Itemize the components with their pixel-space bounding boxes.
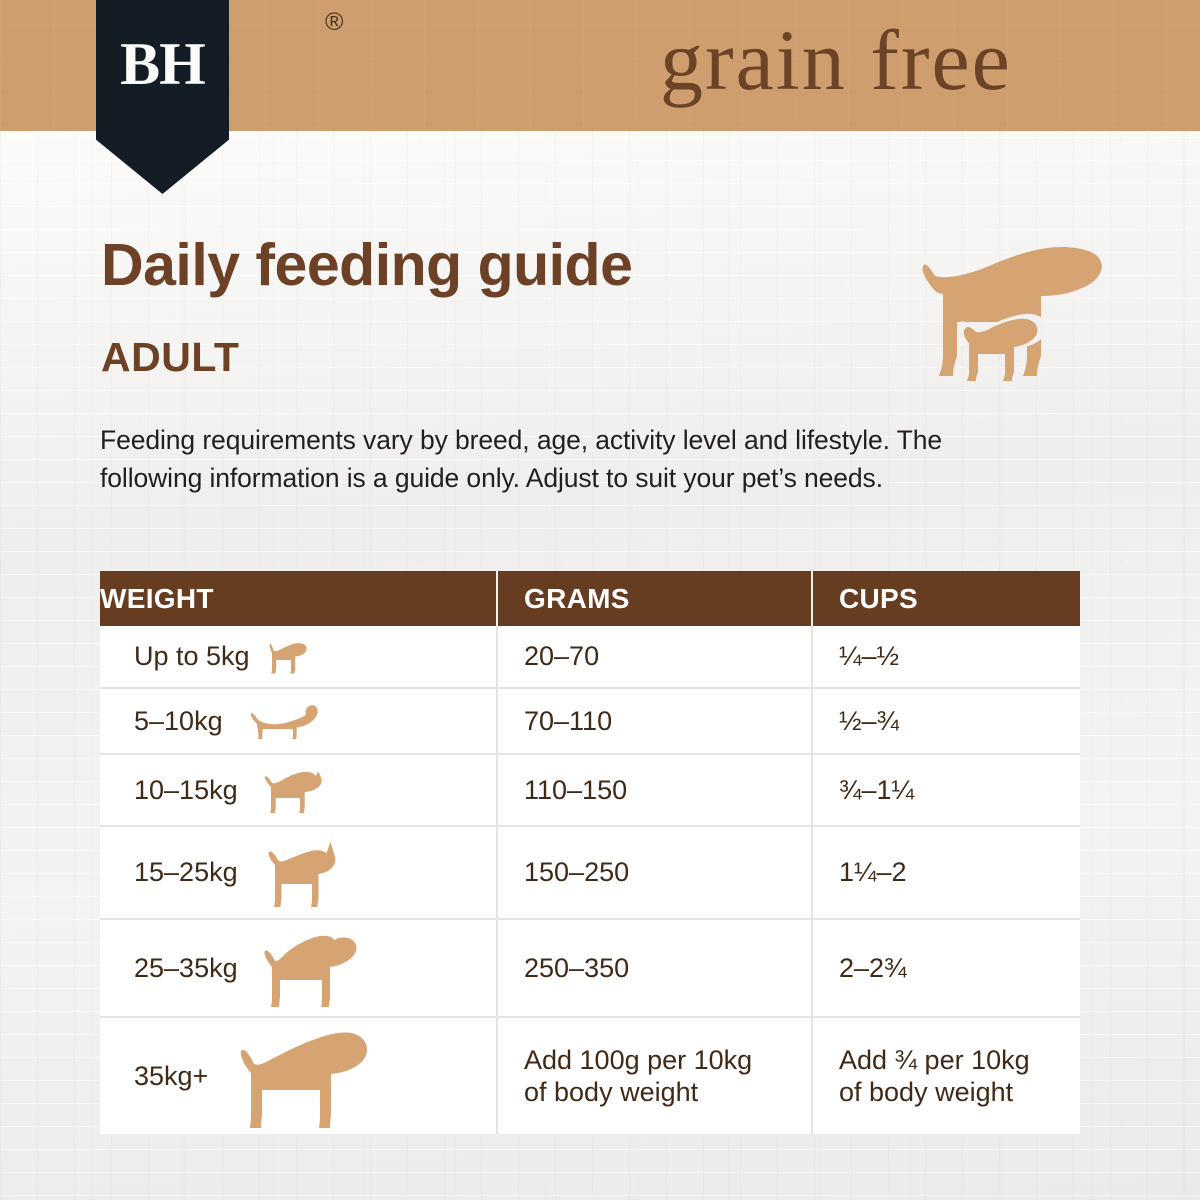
cell-weight: 15–25kg xyxy=(100,826,497,919)
dachshund-icon xyxy=(249,700,321,742)
bulldog-icon xyxy=(262,765,330,815)
grams-line-2: of body weight xyxy=(524,1076,811,1108)
page-title: Daily feeding guide xyxy=(101,236,632,295)
mastiff-icon xyxy=(238,1022,370,1130)
adult-dog-and-puppy-icon xyxy=(915,236,1110,386)
grain-free-tagline: grain free xyxy=(660,17,1012,103)
table-body: Up to 5kg 20–70 ¼–½ 5–10kg xyxy=(100,626,1080,1134)
table-row: 5–10kg 70–110 ½–¾ xyxy=(100,688,1080,754)
cell-grams: 250–350 xyxy=(497,919,812,1017)
hound-icon xyxy=(262,927,362,1009)
table-header: WEIGHT GRAMS CUPS xyxy=(100,571,1080,626)
column-header-weight: WEIGHT xyxy=(100,571,497,626)
cell-weight: 35kg+ xyxy=(100,1017,497,1134)
cups-line-2: of body weight xyxy=(839,1076,1080,1108)
beagle-icon xyxy=(260,639,312,675)
cell-grams: 70–110 xyxy=(497,688,812,754)
table-row: 15–25kg 150–250 1¼–2 xyxy=(100,826,1080,919)
table-row: 10–15kg 110–150 ¾–1¼ xyxy=(100,754,1080,826)
cell-weight: Up to 5kg xyxy=(100,626,497,688)
feeding-guide-table: WEIGHT GRAMS CUPS Up to 5kg 20–70 ¼–½ xyxy=(100,571,1080,1134)
page-subtitle: ADULT xyxy=(101,337,239,378)
intro-paragraph: Feeding requirements vary by breed, age,… xyxy=(100,422,1020,497)
brand-logo-text: BH xyxy=(120,34,205,94)
cell-grams: 20–70 xyxy=(497,626,812,688)
cell-cups: ¼–½ xyxy=(812,626,1080,688)
grams-line-1: Add 100g per 10kg xyxy=(524,1044,811,1076)
weight-label: 10–15kg xyxy=(134,775,238,806)
table-header-row: WEIGHT GRAMS CUPS xyxy=(100,571,1080,626)
table-row: 25–35kg 250–350 2–2¾ xyxy=(100,919,1080,1017)
cell-cups: Add ¾ per 10kg of body weight xyxy=(812,1017,1080,1134)
cell-weight: 5–10kg xyxy=(100,688,497,754)
table-row: 35kg+ Add 100g per 10kg of body weight A… xyxy=(100,1017,1080,1134)
cell-cups: 1¼–2 xyxy=(812,826,1080,919)
weight-label: 25–35kg xyxy=(134,953,238,984)
cell-cups: ½–¾ xyxy=(812,688,1080,754)
weight-label: Up to 5kg xyxy=(134,641,250,672)
cell-grams: 110–150 xyxy=(497,754,812,826)
weight-label: 35kg+ xyxy=(134,1061,208,1092)
weight-label: 5–10kg xyxy=(134,706,223,737)
weight-label: 15–25kg xyxy=(134,857,238,888)
registered-trademark-icon: ® xyxy=(325,10,343,35)
cell-grams: 150–250 xyxy=(497,826,812,919)
cell-weight: 25–35kg xyxy=(100,919,497,1017)
terrier-icon xyxy=(264,836,344,910)
cell-cups: 2–2¾ xyxy=(812,919,1080,1017)
cell-cups: ¾–1¼ xyxy=(812,754,1080,826)
column-header-cups: CUPS xyxy=(812,571,1080,626)
cups-line-1: Add ¾ per 10kg xyxy=(839,1044,1080,1076)
cell-weight: 10–15kg xyxy=(100,754,497,826)
column-header-grams: GRAMS xyxy=(497,571,812,626)
cell-grams: Add 100g per 10kg of body weight xyxy=(497,1017,812,1134)
table-row: Up to 5kg 20–70 ¼–½ xyxy=(100,626,1080,688)
